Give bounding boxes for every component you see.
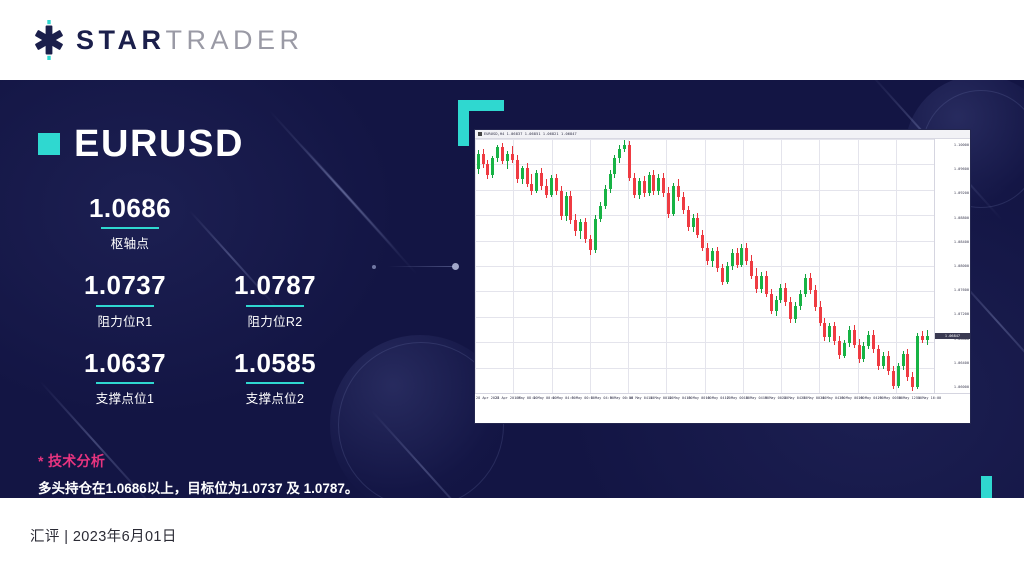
candle-body [667, 193, 670, 214]
support-2-value: 1.0585 [200, 350, 350, 377]
brand-logo[interactable]: STARTRADER [28, 19, 304, 61]
candle-body [696, 218, 699, 235]
gridline-horizontal [475, 266, 934, 267]
candle-body [628, 145, 631, 178]
candle-body [794, 306, 797, 319]
price-tick-label: 1.08800 [954, 216, 969, 220]
resistance-2-label: 阻力位R2 [200, 311, 350, 330]
brand-wordmark: STARTRADER [76, 27, 304, 54]
analysis-section: * 技术分析 多头持仓在1.0686以上，目标位为1.0737 及 1.0787… [38, 451, 378, 498]
resistance-1-block: 1.0737 阻力位R1 [50, 272, 200, 329]
candle-body [892, 371, 895, 386]
page-title: EURUSD [74, 125, 244, 163]
candle-body [906, 354, 909, 377]
pivot-value: 1.0686 [60, 195, 200, 222]
candle-body [775, 300, 778, 311]
candle-body [633, 178, 636, 195]
candle-body [916, 336, 919, 387]
support-1-value: 1.0637 [50, 350, 200, 377]
candle-body [521, 168, 524, 179]
candle-body [838, 341, 841, 356]
candle-body [501, 147, 504, 160]
candle-body [843, 343, 846, 355]
candle-body [672, 186, 675, 214]
candle-body [887, 356, 890, 372]
candle-body [687, 210, 690, 227]
candle-body [711, 251, 714, 261]
candle-body [902, 354, 905, 366]
candle-body [789, 302, 792, 319]
candle-body [599, 206, 602, 219]
candle-body [569, 196, 572, 220]
chart-title: EURUSD,H4 1.06837 1.06851 1.06821 1.0684… [484, 132, 577, 136]
candle-body [526, 168, 529, 184]
candle-body [477, 154, 480, 170]
gridline-horizontal [475, 317, 934, 318]
candle-body [530, 184, 533, 191]
support-2-label: 支撑点位2 [200, 388, 350, 407]
instrument-title-row: EURUSD [38, 125, 438, 163]
candle-body [511, 154, 514, 160]
resistance-1-label: 阻力位R1 [50, 311, 200, 330]
candle-body [760, 276, 763, 289]
resistance-1-value: 1.0737 [50, 272, 200, 299]
candle-body [545, 186, 548, 194]
candle-body [638, 181, 641, 194]
time-tick-label: 31 May 16:00 [916, 396, 941, 400]
candle-body [609, 174, 612, 189]
candle-body [623, 145, 626, 149]
candle-body [911, 377, 914, 387]
price-tick-label: 1.09200 [954, 191, 969, 195]
levels-grid: 1.0737 阻力位R1 1.0787 阻力位R2 [50, 272, 350, 347]
candle-body [701, 235, 704, 248]
support-2-block: 1.0585 支撑点位2 [200, 350, 350, 407]
pivot-label: 枢轴点 [60, 233, 200, 252]
footer-caption: 汇评 | 2023年6月01日 [30, 525, 177, 546]
candle-body [872, 335, 875, 350]
candle-body [740, 248, 743, 265]
candle-body [560, 191, 563, 216]
candle-body [540, 173, 543, 186]
gridline-horizontal [475, 342, 934, 343]
pivot-block: 1.0686 枢轴点 [60, 195, 200, 252]
candle-body [726, 266, 729, 282]
candle-body [721, 268, 724, 281]
star-asterisk-icon [28, 19, 70, 61]
divider [101, 227, 159, 229]
candle-body [604, 189, 607, 206]
candle-body [770, 294, 773, 311]
chart-header: EURUSD,H4 1.06837 1.06851 1.06821 1.0684… [475, 130, 970, 139]
candle-body [682, 197, 685, 210]
gridline-horizontal [475, 241, 934, 242]
analysis-body: 多头持仓在1.0686以上，目标位为1.0737 及 1.0787。 若低于 1… [38, 477, 378, 498]
price-chart[interactable]: EURUSD,H4 1.06837 1.06851 1.06821 1.0684… [474, 129, 971, 424]
candle-body [589, 239, 592, 250]
candle-body [814, 290, 817, 307]
candle-body [784, 288, 787, 303]
candle-body [897, 366, 900, 385]
levels-grid: 1.0637 支撑点位1 1.0585 支撑点位2 [50, 350, 350, 425]
candle-body [858, 345, 861, 360]
candle-body [755, 276, 758, 289]
candle-body [535, 173, 538, 191]
current-price-tag: 1.06847 [935, 333, 970, 339]
candle-body [657, 178, 660, 191]
candle-body [809, 278, 812, 290]
gridline-horizontal [475, 164, 934, 165]
candle-body [779, 288, 782, 300]
candle-body [736, 253, 739, 265]
gridline-horizontal [475, 139, 934, 140]
candle-body [867, 335, 870, 346]
candle-body [848, 330, 851, 343]
candle-body [823, 323, 826, 338]
candle-body [574, 220, 577, 231]
candle-body [731, 253, 734, 266]
main-panel: EURUSD 1.0686 枢轴点 1.0737 阻力位R1 1.0787 阻力… [0, 80, 1024, 498]
divider [246, 305, 304, 307]
candle-body [613, 158, 616, 174]
analysis-title: * 技术分析 [38, 451, 378, 471]
candle-body [579, 222, 582, 230]
candle-body [877, 349, 880, 366]
candle-body [516, 160, 519, 179]
gridline-horizontal [475, 215, 934, 216]
divider [96, 305, 154, 307]
divider [96, 382, 154, 384]
app-header: STARTRADER [0, 0, 1024, 80]
price-tick-label: 1.08400 [954, 240, 969, 244]
price-tick-label: 1.07600 [954, 288, 969, 292]
candle-body [853, 330, 856, 345]
candle-body [486, 164, 489, 175]
candle-body [565, 196, 568, 217]
candle-body [692, 218, 695, 228]
candle-body [833, 326, 836, 341]
candle-body [804, 278, 807, 294]
candle-body [926, 336, 929, 340]
candle-body [506, 154, 509, 161]
resistance-2-value: 1.0787 [200, 272, 350, 299]
candle-body [716, 251, 719, 268]
candle-body [882, 356, 885, 367]
candle-body [496, 147, 499, 158]
candle-body [677, 186, 680, 197]
brand-name-light: TRADER [166, 25, 304, 55]
candle-body [550, 178, 553, 195]
price-tick-label: 1.06400 [954, 361, 969, 365]
gridline-horizontal [475, 291, 934, 292]
candle-body [652, 175, 655, 191]
divider [246, 382, 304, 384]
candle-body [750, 261, 753, 276]
candle-body [828, 326, 831, 337]
candle-body [862, 346, 865, 359]
price-axis: 1.100001.096001.092001.088001.084001.080… [934, 139, 970, 393]
candle-body [643, 181, 646, 193]
resistance-2-block: 1.0787 阻力位R2 [200, 272, 350, 329]
candle-body [662, 178, 665, 194]
candle-body [921, 336, 924, 340]
instrument-panel: EURUSD 1.0686 枢轴点 1.0737 阻力位R1 1.0787 阻力… [38, 80, 438, 498]
chart-body: 1.100001.096001.092001.088001.084001.080… [475, 139, 970, 404]
price-tick-label: 1.06000 [954, 385, 969, 389]
gridline-horizontal [475, 368, 934, 369]
analysis-line-1: 多头持仓在1.0686以上，目标位为1.0737 及 1.0787。 [38, 477, 378, 498]
price-tick-label: 1.07200 [954, 312, 969, 316]
support-1-label: 支撑点位1 [50, 388, 200, 407]
price-tick-label: 1.10000 [954, 143, 969, 147]
candle-body [799, 294, 802, 306]
candle-body [765, 276, 768, 294]
candle-body [706, 248, 709, 261]
brand-name-bold: STAR [76, 25, 166, 55]
candle-body [819, 307, 822, 323]
candle-body [594, 219, 597, 250]
pair-bullet-icon [38, 133, 60, 155]
candlestick-plot[interactable] [475, 139, 934, 393]
gridline-horizontal [475, 190, 934, 191]
page-footer: 汇评 | 2023年6月01日 [0, 498, 1024, 576]
chart-zone: EURUSD,H4 1.06837 1.06851 1.06821 1.0684… [446, 100, 1006, 480]
candle-body [618, 149, 621, 159]
price-tick-label: 1.09600 [954, 167, 969, 171]
candle-body [491, 158, 494, 175]
time-axis: 28 Apr 202328 Apr 20:001 May 08:002 May … [475, 393, 970, 404]
corner-bracket-top-left [458, 100, 469, 146]
chart-symbol-icon [478, 132, 482, 136]
candle-body [482, 154, 485, 165]
candle-body [745, 248, 748, 261]
candle-body [555, 178, 558, 191]
price-tick-label: 1.08000 [954, 264, 969, 268]
candle-body [584, 222, 587, 239]
corner-bracket-bottom-right [981, 476, 992, 498]
candle-body [648, 175, 651, 193]
support-1-block: 1.0637 支撑点位1 [50, 350, 200, 407]
